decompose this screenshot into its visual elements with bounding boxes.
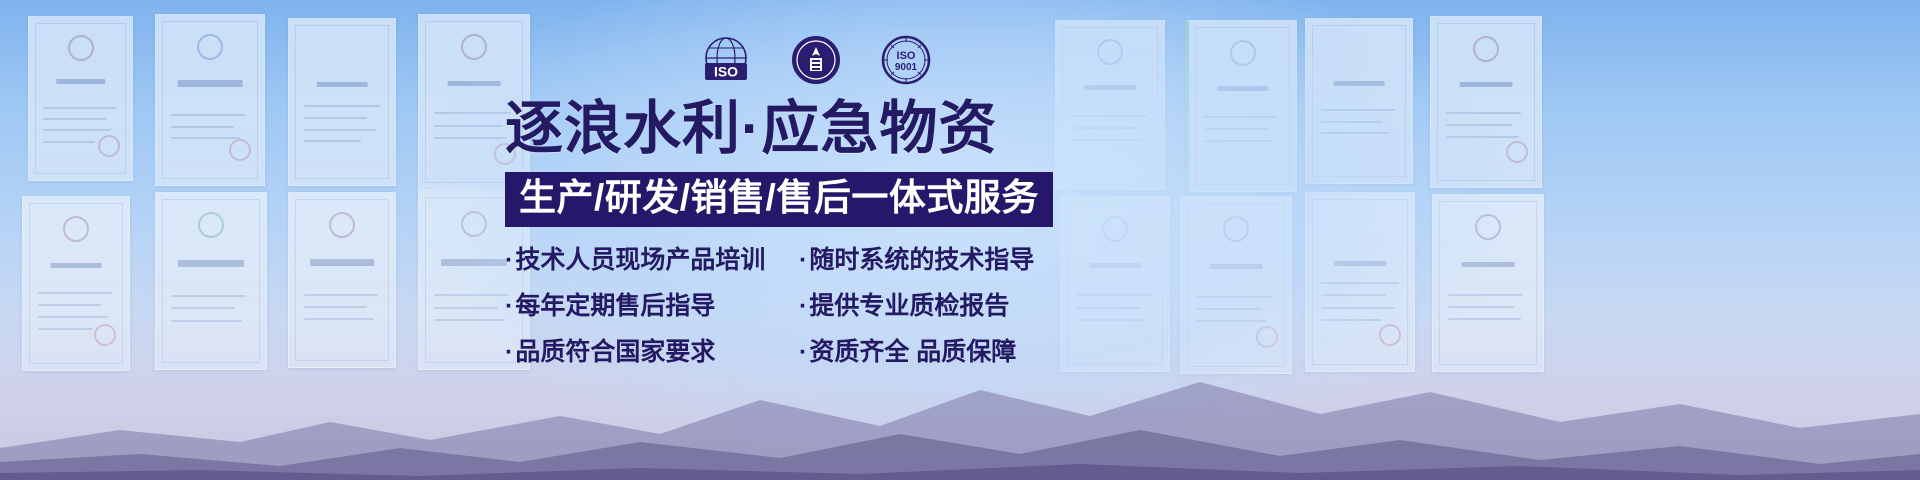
feature-list: · 技术人员现场产品培训 · 随时系统的技术指导 · 每年定期售后指导 · 提供… xyxy=(505,245,1085,367)
bullet-dot: · xyxy=(505,337,513,367)
feature-item: · 品质符合国家要求 xyxy=(505,337,785,367)
feature-label: 技术人员现场产品培训 xyxy=(515,245,765,275)
certificate-thumb xyxy=(155,14,265,186)
certificate-thumb xyxy=(1430,16,1542,188)
feature-label: 资质齐全 品质保障 xyxy=(809,337,1016,367)
certification-badges: ISO xyxy=(700,34,932,86)
bullet-dot: · xyxy=(799,337,807,367)
banner-content: 逐浪水利·应急物资 生产/研发/销售/售后一体式服务 · 技术人员现场产品培训 … xyxy=(505,96,1085,367)
feature-item: · 提供专业质检报告 xyxy=(799,291,1085,321)
iso-globe-badge: ISO xyxy=(700,34,752,86)
banner-subtitle-bar: 生产/研发/销售/售后一体式服务 xyxy=(505,172,1053,227)
promo-banner: ISO xyxy=(0,0,1920,480)
banner-main-title: 逐浪水利·应急物资 xyxy=(505,96,1085,162)
feature-item: · 每年定期售后指导 xyxy=(505,291,785,321)
svg-text:ISO: ISO xyxy=(897,50,916,62)
bullet-dot: · xyxy=(799,291,807,321)
feature-label: 随时系统的技术指导 xyxy=(809,245,1034,275)
certificate-thumb xyxy=(28,16,133,181)
certificate-thumb xyxy=(1185,20,1297,192)
certificate-thumb xyxy=(1305,18,1413,184)
feature-item: · 技术人员现场产品培训 xyxy=(505,245,785,275)
svg-text:ISO: ISO xyxy=(714,64,738,80)
feature-label: 每年定期售后指导 xyxy=(515,291,715,321)
svg-text:9001: 9001 xyxy=(895,62,918,73)
bullet-dot: · xyxy=(505,245,513,275)
feature-label: 品质符合国家要求 xyxy=(515,337,715,367)
feature-item: · 资质齐全 品质保障 xyxy=(799,337,1085,367)
iso9001-badge: ISO 9001 xyxy=(880,34,932,86)
certificate-thumb xyxy=(288,18,396,186)
bullet-dot: · xyxy=(799,245,807,275)
quality-emblem-badge xyxy=(790,34,842,86)
feature-item: · 随时系统的技术指导 xyxy=(799,245,1085,275)
bullet-dot: · xyxy=(505,291,513,321)
feature-label: 提供专业质检报告 xyxy=(809,291,1009,321)
